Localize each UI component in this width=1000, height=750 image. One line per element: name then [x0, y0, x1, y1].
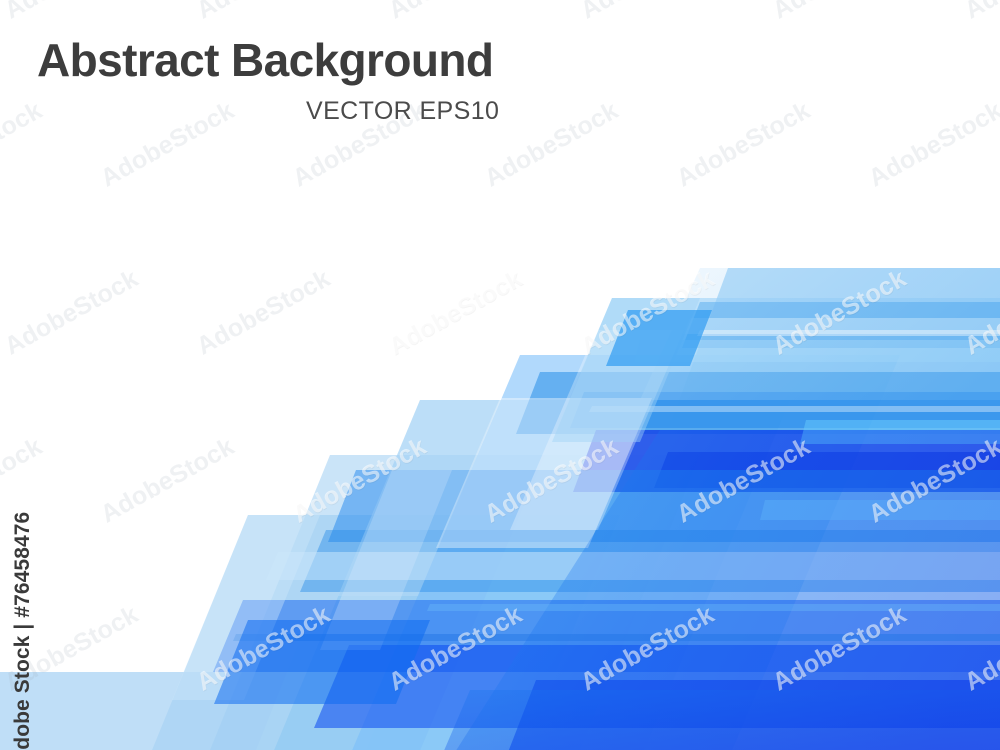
artwork-svg	[0, 0, 1000, 750]
artwork-shape-group	[0, 0, 1000, 750]
abstract-background-artwork	[0, 0, 1000, 750]
shape-depth-wash-bottom	[440, 690, 1000, 750]
shape-accent-line-c	[697, 330, 1000, 336]
shape-accent-line-d	[427, 604, 1000, 611]
shape-blue-accent-bottom-left	[214, 620, 430, 704]
screenshot-canvas: AdobeStockAdobeStockAdobeStockAdobeStock…	[0, 0, 1000, 750]
